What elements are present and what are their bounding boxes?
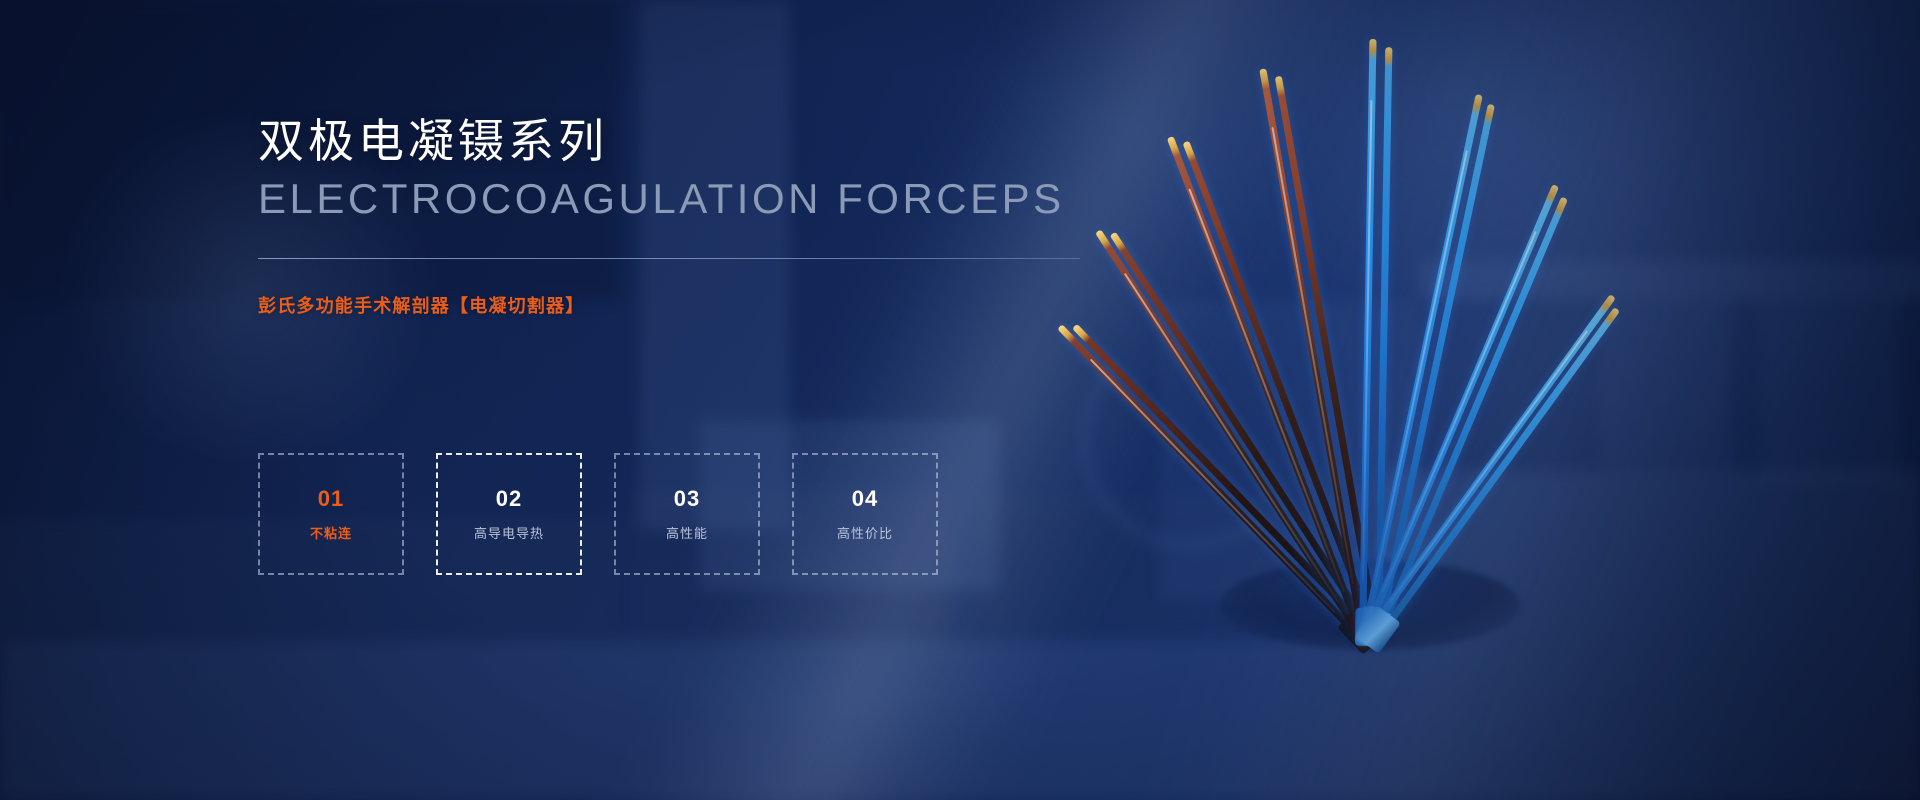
feature-card-03[interactable]: 03 高性能	[614, 453, 760, 575]
feature-number: 04	[852, 488, 878, 510]
page-subtitle-en: ELECTROCOAGULATION FORCEPS	[258, 178, 1098, 220]
feature-list: 01 不粘连 02 高导电导热 03 高性能 04 高性价比	[258, 453, 938, 575]
product-tagline: 彭氏多功能手术解剖器【电凝切割器】	[258, 292, 1098, 318]
feature-card-01[interactable]: 01 不粘连	[258, 453, 404, 575]
feature-card-02[interactable]: 02 高导电导热	[436, 453, 582, 575]
feature-label: 高性能	[666, 527, 708, 540]
feature-label: 不粘连	[310, 527, 352, 540]
feature-number: 01	[318, 488, 344, 510]
divider	[258, 258, 1080, 259]
feature-number: 03	[674, 488, 700, 510]
page-title: 双极电凝镊系列	[258, 118, 1098, 164]
feature-label: 高性价比	[837, 527, 893, 540]
feature-number: 02	[496, 488, 522, 510]
banner-content: 双极电凝镊系列 ELECTROCOAGULATION FORCEPS 彭氏多功能…	[258, 118, 1098, 318]
feature-label: 高导电导热	[474, 527, 544, 540]
product-banner: 双极电凝镊系列 ELECTROCOAGULATION FORCEPS 彭氏多功能…	[0, 0, 1920, 800]
feature-card-04[interactable]: 04 高性价比	[792, 453, 938, 575]
